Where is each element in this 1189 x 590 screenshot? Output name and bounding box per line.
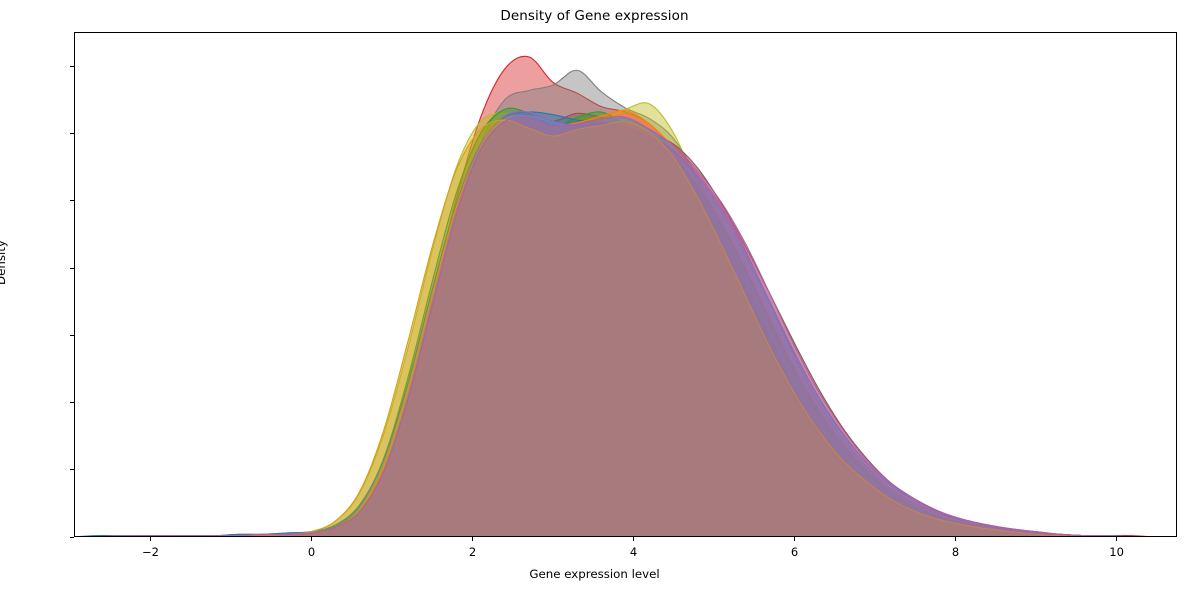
x-tick-mark [955, 537, 956, 541]
x-tick-label: 0 [308, 545, 315, 559]
kde-series-12 [74, 117, 1177, 537]
x-tick-label: 8 [952, 545, 959, 559]
x-tick-label: 2 [469, 545, 476, 559]
y-tick-mark [70, 268, 74, 269]
x-tick-mark [794, 537, 795, 541]
y-tick-mark [70, 133, 74, 134]
x-tick-mark [1116, 537, 1117, 541]
y-tick-mark [70, 200, 74, 201]
x-tick-mark [311, 537, 312, 541]
y-tick-mark [70, 335, 74, 336]
x-tick-mark [633, 537, 634, 541]
y-tick-mark [70, 537, 74, 538]
x-tick-label: −2 [142, 545, 159, 559]
y-tick-mark [70, 469, 74, 470]
x-axis-label: Gene expression level [0, 567, 1189, 581]
x-tick-label: 4 [630, 545, 637, 559]
x-tick-mark [472, 537, 473, 541]
x-tick-mark [150, 537, 151, 541]
x-tick-label: 10 [1109, 545, 1124, 559]
density-plot-figure: Density of Gene expression 0.000.050.100… [0, 0, 1189, 590]
plot-area [74, 32, 1177, 537]
x-tick-label: 6 [791, 545, 798, 559]
kde-curves-svg [74, 32, 1177, 537]
y-axis-label: Density [0, 240, 8, 285]
kde-fill [74, 117, 1177, 537]
page-title: Density of Gene expression [0, 8, 1189, 24]
y-tick-mark [70, 66, 74, 67]
y-tick-mark [70, 402, 74, 403]
